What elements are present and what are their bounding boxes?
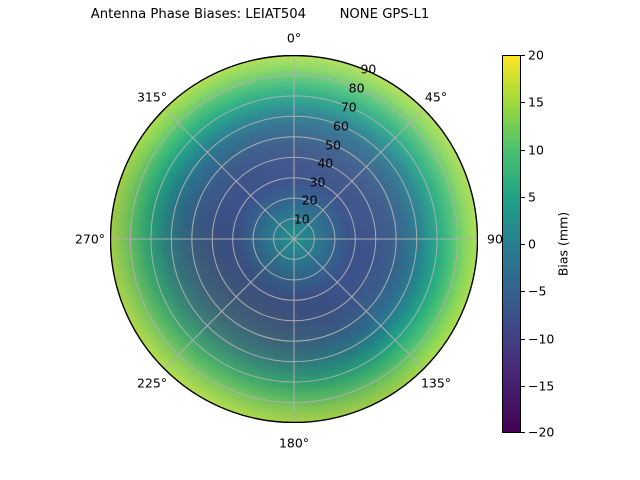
- colorbar-axis-label: Bias (mm): [556, 212, 571, 276]
- theta-tick-label-225: 225°: [137, 376, 167, 391]
- colorbar-tick-10: [521, 150, 525, 151]
- figure-canvas: Antenna Phase Biases: LEIAT504 NONE GPS-…: [0, 0, 640, 480]
- colorbar-tick-label-20: 20: [528, 48, 544, 63]
- page-title: Antenna Phase Biases: LEIAT504 NONE GPS-…: [0, 7, 520, 22]
- r-tick-label-20: 20: [302, 193, 318, 208]
- theta-tick-label-45: 45°: [425, 90, 447, 105]
- colorbar-tick-0: [521, 244, 525, 245]
- theta-tick-label-270: 270°: [75, 232, 105, 247]
- polar-axes[interactable]: 10 20 30 40 50 60 70 80 90: [110, 55, 478, 423]
- polar-grid-spokes: [110, 55, 478, 423]
- r-tick-label-50: 50: [325, 137, 341, 152]
- colorbar-tick-label-neg20: −20: [528, 425, 554, 440]
- colorbar-tick-label-10: 10: [528, 142, 544, 157]
- theta-tick-label-315: 315°: [137, 90, 167, 105]
- colorbar-tick-neg15: [521, 386, 525, 387]
- colorbar-tick-5: [521, 197, 525, 198]
- colorbar-tick-label-neg15: −15: [528, 378, 554, 393]
- r-tick-label-60: 60: [333, 118, 349, 133]
- colorbar-tick-neg20: [521, 432, 525, 433]
- theta-tick-label-90: 90: [487, 232, 503, 247]
- colorbar-tick-label-neg5: −5: [528, 284, 546, 299]
- theta-tick-label-180: 180°: [279, 436, 309, 451]
- r-tick-label-80: 80: [349, 80, 365, 95]
- theta-tick-label-135: 135°: [421, 376, 451, 391]
- colorbar-tick-label-neg10: −10: [528, 331, 554, 346]
- r-tick-label-40: 40: [317, 156, 333, 171]
- colorbar-tick-15: [521, 102, 525, 103]
- polar-plot-svg: [110, 55, 478, 423]
- r-tick-label-90: 90: [360, 61, 376, 76]
- colorbar-tick-neg10: [521, 339, 525, 340]
- r-tick-label-10: 10: [294, 212, 310, 227]
- colorbar-gradient: [502, 55, 521, 433]
- colorbar-tick-label-5: 5: [528, 189, 536, 204]
- colorbar-tick-20: [521, 55, 525, 56]
- colorbar-tick-neg5: [521, 291, 525, 292]
- colorbar[interactable]: 20 15 10 5 0 −5 −10 −15 −20: [502, 55, 521, 433]
- colorbar-tick-label-15: 15: [528, 95, 544, 110]
- colorbar-tick-label-0: 0: [528, 237, 536, 252]
- r-tick-label-70: 70: [341, 99, 357, 114]
- r-tick-label-30: 30: [310, 175, 326, 190]
- theta-tick-label-0: 0°: [287, 31, 301, 46]
